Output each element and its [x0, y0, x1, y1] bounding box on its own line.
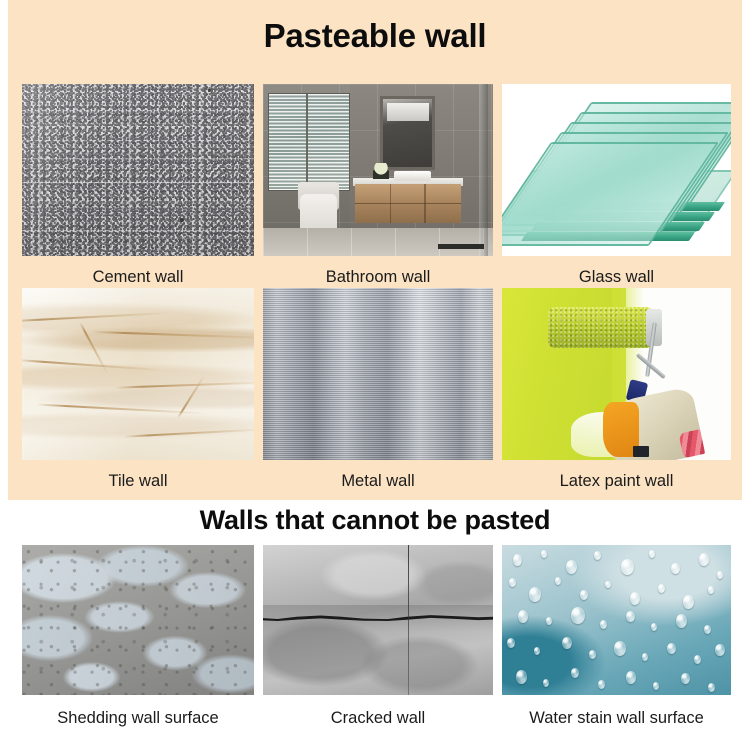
pasteable-row-1: Cement wall — [22, 84, 731, 286]
paint-roller-photo — [502, 288, 731, 460]
item-bathroom-wall: Bathroom wall — [263, 84, 493, 286]
cement-texture-photo — [22, 84, 254, 256]
water-droplets-photo — [502, 545, 731, 695]
not-pasteable-row-1: Shedding wall surface Cracked wall — [22, 545, 731, 727]
not-pasteable-section-title: Walls that cannot be pasted — [0, 505, 750, 536]
item-label: Tile wall — [22, 460, 254, 490]
item-shedding-wall-surface: Shedding wall surface — [22, 545, 254, 727]
item-tile-wall: Tile wall — [22, 288, 254, 490]
item-label: Water stain wall surface — [502, 695, 731, 727]
item-glass-wall: Glass wall — [502, 84, 731, 286]
item-metal-wall: Metal wall — [263, 288, 493, 490]
item-water-stain-wall-surface: Water stain wall surface — [502, 545, 731, 727]
item-label: Glass wall — [502, 256, 731, 286]
cracked-concrete-photo — [263, 545, 493, 695]
item-label: Latex paint wall — [502, 460, 731, 490]
item-label: Cracked wall — [263, 695, 493, 727]
item-label: Metal wall — [263, 460, 493, 490]
brushed-metal-texture-photo — [263, 288, 493, 460]
pasteable-row-2: Tile wall Metal wall Latex — [22, 288, 731, 490]
item-label: Cement wall — [22, 256, 254, 286]
marble-tile-texture-photo — [22, 288, 254, 460]
item-label: Bathroom wall — [263, 256, 493, 286]
infographic-page: Pasteable wall Cement wall — [0, 0, 750, 750]
stacked-glass-sheets-photo — [502, 84, 731, 256]
item-latex-paint-wall: Latex paint wall — [502, 288, 731, 490]
item-label: Shedding wall surface — [22, 695, 254, 727]
bathroom-interior-photo — [263, 84, 493, 256]
item-cement-wall: Cement wall — [22, 84, 254, 286]
pasteable-section-title: Pasteable wall — [8, 0, 742, 52]
peeling-wall-photo — [22, 545, 254, 695]
item-cracked-wall: Cracked wall — [263, 545, 493, 727]
